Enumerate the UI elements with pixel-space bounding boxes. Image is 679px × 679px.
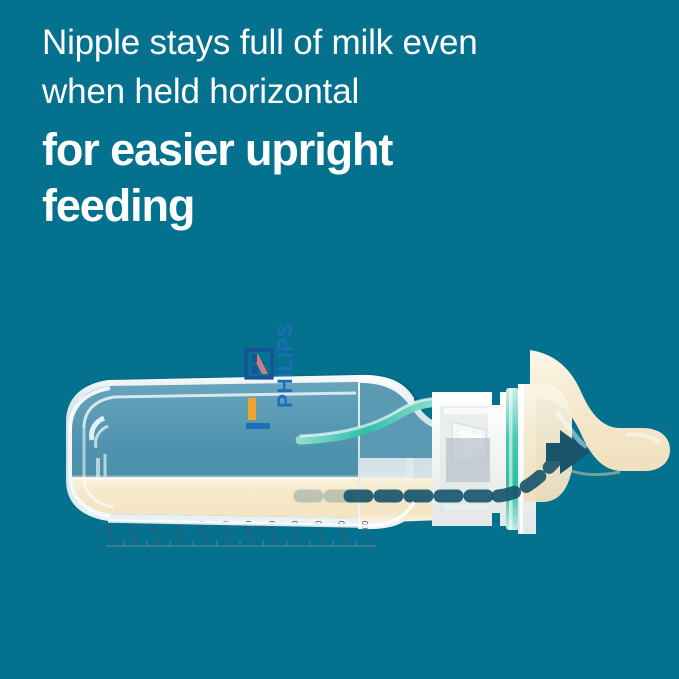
headline-line-2: when held horizontal — [42, 67, 642, 116]
headline-bold-block: for easier upright feeding — [42, 122, 642, 234]
teal-seal-ring — [506, 388, 519, 530]
scale-number: 80 — [152, 525, 161, 534]
headline-line-3: for easier upright — [42, 122, 642, 178]
promo-canvas: Nipple stays full of milk even when held… — [0, 0, 679, 679]
scale-number: 180 — [268, 520, 277, 534]
scale-number: 60 — [128, 525, 137, 534]
scale-number: 200 — [291, 520, 300, 534]
avent-bar-blue — [246, 423, 270, 429]
valve-window — [446, 438, 490, 482]
scale-number: 220 — [314, 520, 323, 534]
bottle-collar — [432, 392, 518, 526]
headline-line-4: feeding — [42, 178, 642, 234]
scale-number: 40 — [105, 525, 114, 534]
headline-block: Nipple stays full of milk even when held… — [42, 18, 642, 234]
bottle-illustration: PHILIPS — [0, 280, 679, 610]
bottle-nipple — [524, 350, 670, 502]
philips-logo — [246, 350, 272, 378]
avent-bar-orange — [248, 398, 256, 420]
brand-philips-text: PHILIPS — [274, 323, 297, 408]
headline-line-1: Nipple stays full of milk even — [42, 18, 642, 67]
